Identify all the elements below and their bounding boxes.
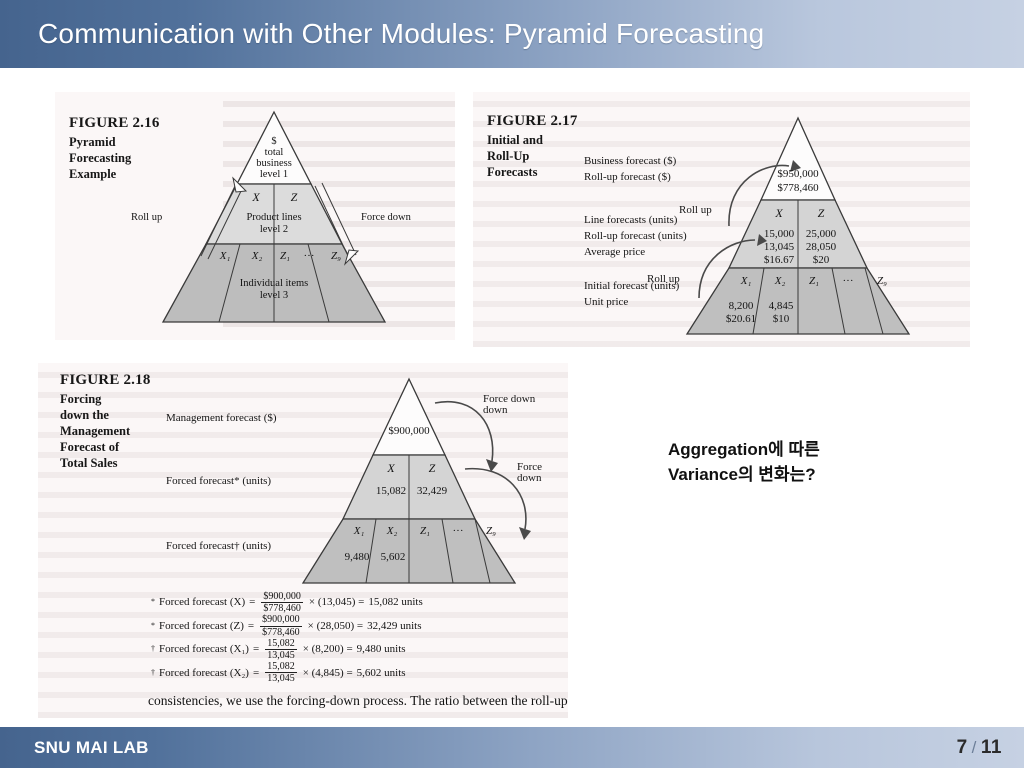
arrow-label-force-down: Force down xyxy=(361,212,411,223)
slide: Communication with Other Modules: Pyrami… xyxy=(0,0,1024,768)
formula-times: × (28,050) = xyxy=(308,615,363,638)
level2-x-line-forecast: 15,000 xyxy=(764,228,794,240)
formula-mark: † xyxy=(151,665,155,681)
level3-cell-z1: Z₁ xyxy=(280,250,290,262)
row-label: Roll-up forecast ($) xyxy=(584,170,676,186)
formula-times: × (8,200) = xyxy=(303,638,353,661)
level2-value-x: 15,082 xyxy=(376,485,406,497)
level3-cell-z9: Z₉ xyxy=(877,275,887,287)
figure-2-18-level2-rowlabel: Forced forecast* (units) xyxy=(166,474,271,490)
row-label: Business forecast ($) xyxy=(584,154,676,170)
level2-value-z: 32,429 xyxy=(417,485,447,497)
level3-cell-x2: X₂ xyxy=(252,250,263,262)
figure-2-17-level1-rowlabels: Business forecast ($) Roll-up forecast (… xyxy=(584,154,676,186)
level1-line: business xyxy=(256,158,292,169)
level3-cell-z9: Z₉ xyxy=(486,525,496,537)
level3-x1-initial-forecast: 8,200 xyxy=(729,300,754,312)
level3-cell-x2: X₂ xyxy=(387,525,398,537)
formula-lhs: Forced forecast (X) xyxy=(159,591,245,614)
level3-x2-initial-forecast: 4,845 xyxy=(769,300,794,312)
formula-times: × (13,045) = xyxy=(309,591,364,614)
level3-cell-x1: X₁ xyxy=(741,275,752,287)
level3-value-x1: 9,480 xyxy=(345,551,370,563)
page-indicator: 7 / 11 xyxy=(957,737,1002,759)
figure-caption-line: Forecast of xyxy=(60,439,151,455)
level2-x-average-price: $16.67 xyxy=(764,254,794,266)
arrow-label-roll-up-lower: Roll up xyxy=(647,273,680,285)
formula-result: 32,429 units xyxy=(367,615,421,638)
level1-line: level 1 xyxy=(260,169,288,180)
level2-z-line-forecast: 25,000 xyxy=(806,228,836,240)
formula-equals: = xyxy=(249,591,255,614)
level3-cell-ellipsis: ··· xyxy=(843,275,854,287)
level3-x1-unit-price: $20.61 xyxy=(726,313,756,325)
level2-line: level 2 xyxy=(260,224,288,235)
level2-cell-x: X xyxy=(252,190,259,205)
figure-number: FIGURE 2.17 xyxy=(487,112,578,131)
figure-caption-line: Initial and xyxy=(487,132,578,148)
fraction-numerator: $900,000 xyxy=(261,591,303,603)
figure-2-18-level3-rowlabel: Forced forecast† (units) xyxy=(166,539,271,555)
page-separator: / xyxy=(972,738,977,758)
arrow-label-roll-up-upper: Roll up xyxy=(679,204,712,216)
level2-line: Product lines xyxy=(246,212,301,223)
level2-cell-x: X xyxy=(775,206,782,221)
aggregation-variance-callout: Aggregation에 따른 Variance의 변화는? xyxy=(668,438,820,487)
level3-cell-z1: Z₁ xyxy=(420,525,430,537)
formula-fraction: 15,082 13,045 xyxy=(265,638,297,661)
formula-equals: = xyxy=(253,638,259,661)
figure-2-18-pyramid: $900,000 X Z 15,082 32,429 X₁ X₂ Z₁ ··· … xyxy=(287,373,567,588)
callout-line-2: Variance의 변화는? xyxy=(668,463,820,488)
formula-row: * Forced forecast (Z) = $900,000 $778,46… xyxy=(151,614,423,637)
level3-cell-ellipsis: ··· xyxy=(453,525,464,537)
lab-brand: SNU MAI LAB xyxy=(34,738,149,758)
figure-number: FIGURE 2.18 xyxy=(60,371,151,390)
figure-caption-line: Management xyxy=(60,423,151,439)
figure-2-17-panel: FIGURE 2.17 Initial and Roll-Up Forecast… xyxy=(473,92,970,347)
formula-mark: † xyxy=(151,641,155,657)
figure-caption-line: Forecasts xyxy=(487,164,578,180)
level1-line: total xyxy=(265,147,284,158)
level3-cell-z9: Z₉ xyxy=(331,250,341,262)
formula-row: * Forced forecast (X) = $900,000 $778,46… xyxy=(151,591,423,614)
fraction-denominator: $778,460 xyxy=(261,603,303,614)
formula-result: 5,602 units xyxy=(357,662,406,685)
fraction-denominator: $778,460 xyxy=(260,627,302,638)
level2-cell-z: Z xyxy=(818,206,825,221)
formula-fraction: $900,000 $778,460 xyxy=(261,591,303,614)
formula-equals: = xyxy=(248,615,254,638)
level2-cell-x: X xyxy=(387,461,394,476)
formula-result: 9,480 units xyxy=(357,638,406,661)
formula-lhs: Forced forecast (X₁) xyxy=(159,638,249,661)
callout-line-1: Aggregation에 따른 xyxy=(668,438,820,463)
slide-header: Communication with Other Modules: Pyrami… xyxy=(0,0,1024,68)
figure-2-18-level1-rowlabel: Management forecast ($) xyxy=(166,411,277,427)
formula-result: 15,082 units xyxy=(368,591,422,614)
level2-cell-z: Z xyxy=(429,461,436,476)
level3-line: level 3 xyxy=(260,290,288,301)
fraction-denominator: 13,045 xyxy=(265,673,297,684)
figure-2-18-closing-text: consistencies, we use the forcing-down p… xyxy=(148,693,568,709)
figure-2-18-label: FIGURE 2.18 Forcing down the Management … xyxy=(60,371,151,471)
level3-cell-z1: Z₁ xyxy=(809,275,819,287)
figure-caption-line: Forcing xyxy=(60,391,151,407)
formula-lhs: Forced forecast (X₂) xyxy=(159,662,249,685)
level3-cell-ellipsis: ··· xyxy=(304,250,315,262)
level3-value-x2: 5,602 xyxy=(381,551,406,563)
formula-equals: = xyxy=(253,662,259,685)
figure-2-18-panel: FIGURE 2.18 Forcing down the Management … xyxy=(38,363,568,718)
page-title: Communication with Other Modules: Pyrami… xyxy=(38,18,764,50)
level3-cell-x2: X₂ xyxy=(775,275,786,287)
formula-fraction: $900,000 $778,460 xyxy=(260,614,302,637)
page-current: 7 xyxy=(957,737,968,759)
fraction-numerator: 15,082 xyxy=(265,638,297,650)
row-label: Unit price xyxy=(584,295,679,311)
level1-value-business: $950,000 xyxy=(777,168,818,180)
level3-cell-x1: X₁ xyxy=(220,250,231,262)
fraction-numerator: 15,082 xyxy=(265,661,297,673)
figure-2-16-panel: FIGURE 2.16 Pyramid Forecasting Example xyxy=(55,92,455,340)
level1-line: $ xyxy=(271,136,276,147)
level2-x-rollup-forecast: 13,045 xyxy=(764,241,794,253)
level2-cell-z: Z xyxy=(291,190,298,205)
page-total: 11 xyxy=(981,737,1002,759)
slide-footer: SNU MAI LAB 7 / 11 xyxy=(0,727,1024,768)
level3-x2-unit-price: $10 xyxy=(773,313,790,325)
figure-2-17-pyramid: $950,000 $778,460 X Z 15,000 13,045 $16.… xyxy=(669,110,969,338)
formula-mark: * xyxy=(151,618,155,634)
formula-lhs: Forced forecast (Z) xyxy=(159,615,244,638)
arrow-label-force-down-upper-2: down xyxy=(483,404,507,416)
figure-caption-line: Total Sales xyxy=(60,455,151,471)
figure-2-16-pyramid: $ total business level 1 X Z Product lin… xyxy=(139,106,409,328)
formula-row: † Forced forecast (X₁) = 15,082 13,045 ×… xyxy=(151,638,423,661)
level3-cell-x1: X₁ xyxy=(354,525,365,537)
level2-z-average-price: $20 xyxy=(813,254,830,266)
figure-2-17-label: FIGURE 2.17 Initial and Roll-Up Forecast… xyxy=(487,112,578,180)
formula-times: × (4,845) = xyxy=(303,662,353,685)
arrow-label-force-down-lower-2: down xyxy=(517,472,541,484)
formula-row: † Forced forecast (X₂) = 15,082 13,045 ×… xyxy=(151,661,423,684)
fraction-numerator: $900,000 xyxy=(260,614,302,626)
level1-value-rollup: $778,460 xyxy=(777,182,818,194)
formula-mark: * xyxy=(151,594,155,610)
arrow-label-roll-up: Roll up xyxy=(131,212,162,223)
figure-2-18-formulas: * Forced forecast (X) = $900,000 $778,46… xyxy=(151,591,423,685)
level2-z-rollup-forecast: 28,050 xyxy=(806,241,836,253)
figure-caption-line: down the xyxy=(60,407,151,423)
fraction-denominator: 13,045 xyxy=(265,650,297,661)
level1-value: $900,000 xyxy=(388,425,429,437)
formula-fraction: 15,082 13,045 xyxy=(265,661,297,684)
level3-line: Individual items xyxy=(240,278,309,289)
figure-caption-line: Roll-Up xyxy=(487,148,578,164)
